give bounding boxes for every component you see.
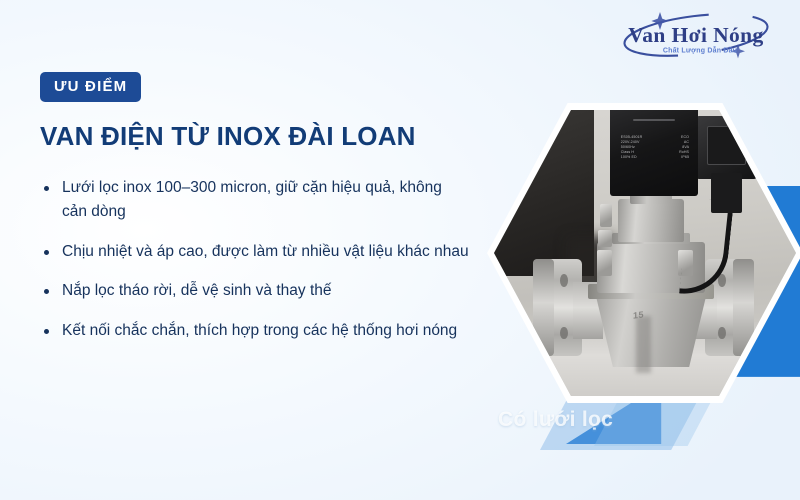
coil-spec-row: ES05-4501R ECO (621, 135, 689, 139)
solenoid-coil: ES05-4501R ECO 220V-240V AC 50/60Hz 8VA … (610, 110, 698, 196)
solenoid-connector-plug (696, 116, 756, 179)
flange-bolt-hole (718, 327, 726, 340)
coil-brand-mark (633, 119, 675, 121)
coil-spec-key: 220V-240V (621, 140, 640, 144)
coil-spec-value: RoHS (679, 150, 689, 154)
page-title: VAN ĐIỆN TỪ INOX ĐÀI LOAN (40, 122, 470, 152)
product-photo: 15 ES05-4501R ECO (494, 110, 796, 396)
list-item: Lưới lọc inox 100–300 micron, giữ cặn hi… (40, 176, 470, 225)
coil-spec-value: IP65 (681, 155, 689, 159)
list-item: Nắp lọc tháo rời, dễ vệ sinh và thay thế (40, 279, 470, 303)
flange-rim-right (733, 259, 753, 356)
coil-spec-row: 50/60Hz 8VA (621, 145, 689, 149)
coil-spec-row: 100% ED IP65 (621, 155, 689, 159)
product-image-caption: Có lưới lọc (498, 408, 613, 432)
list-item: Chịu nhiệt và áp cao, được làm từ nhiều … (40, 240, 470, 264)
product-photo-hexagon-frame: 15 ES05-4501R ECO (487, 103, 800, 403)
coil-spec-value: 8VA (682, 145, 689, 149)
coil-spec-value: ECO (681, 135, 689, 139)
logo-wordmark: Van Hơi Nóng (628, 23, 763, 47)
content-column: ƯU ĐIỂM VAN ĐIỆN TỪ INOX ĐÀI LOAN Lưới l… (40, 72, 470, 358)
list-item: Kết nối chắc chắn, thích hợp trong các h… (40, 319, 470, 343)
advantages-badge: ƯU ĐIỂM (40, 72, 141, 102)
flange-rim-left (533, 259, 553, 356)
valve-bonnet (618, 199, 684, 242)
valve-size-marking: 15 (633, 310, 644, 321)
coil-spec-value: AC (684, 140, 689, 144)
valve-body-shadow (636, 316, 651, 373)
logo-tagline: Chất Lượng Dẫn Đầu (663, 46, 737, 55)
flange-bolt-hole (560, 327, 568, 340)
flange-bolt-hole (560, 274, 568, 287)
advantages-list: Lưới lọc inox 100–300 micron, giữ cặn hi… (40, 176, 470, 343)
coil-spec-row: 220V-240V AC (621, 140, 689, 144)
plug-face (707, 126, 746, 165)
coil-spec-key: ES05-4501R (621, 135, 643, 139)
brand-logo: Van Hơi Nóng Chất Lượng Dẫn Đầu (608, 4, 784, 66)
valve-body-bolt (597, 250, 612, 276)
coil-spec-key: 50/60Hz (621, 145, 635, 149)
valve-bonnet-bolt (600, 204, 612, 227)
plug-neck (711, 173, 741, 213)
coil-spec-row: Class H RoHS (621, 150, 689, 154)
coil-spec-key: Class H (621, 150, 634, 154)
valve-bonnet-bolt (598, 230, 612, 247)
coil-spec-key: 100% ED (621, 155, 637, 159)
coil-spec-label: ES05-4501R ECO 220V-240V AC 50/60Hz 8VA … (621, 135, 689, 159)
